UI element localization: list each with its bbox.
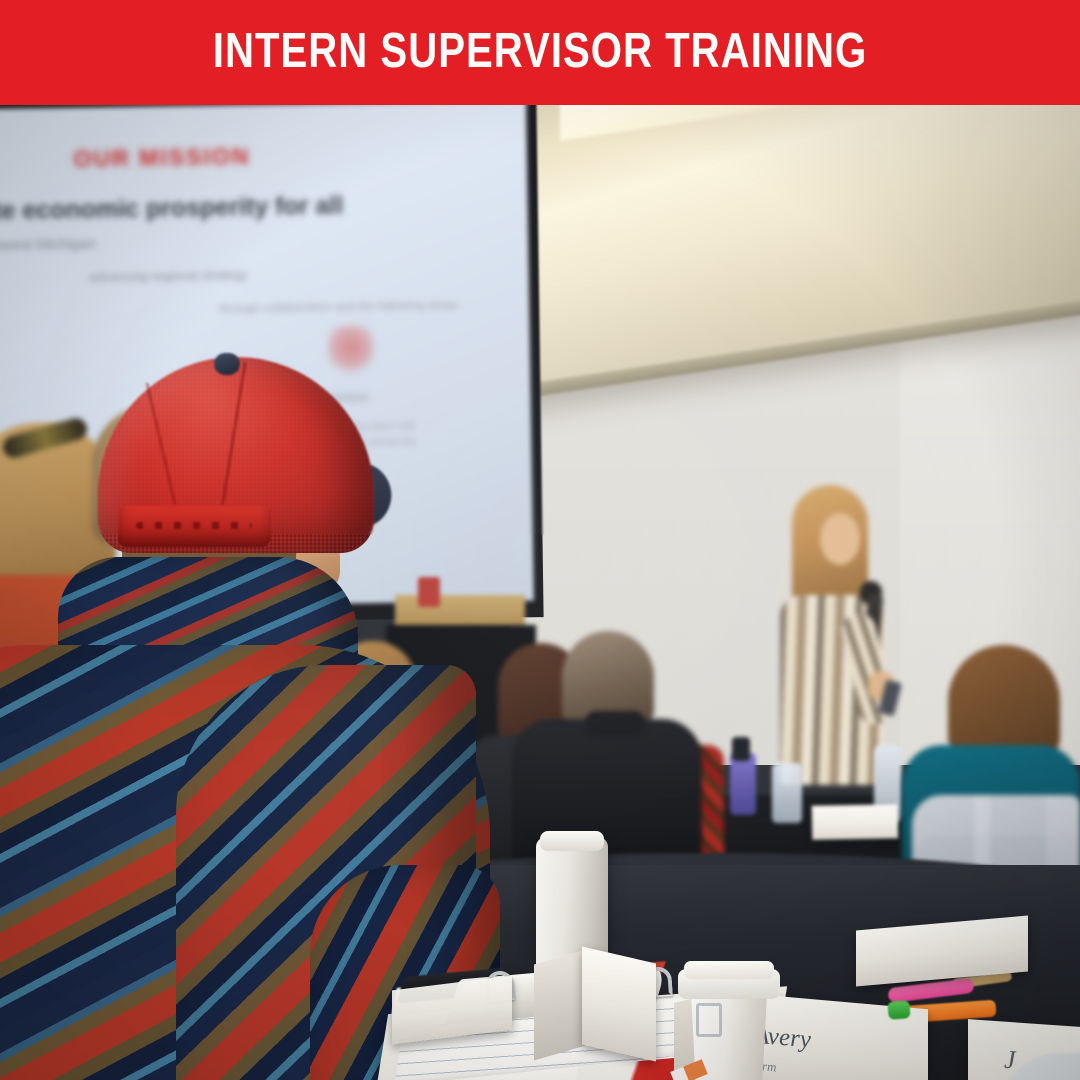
training-promo-card: INTERN SUPERVISOR TRAINING OUR MISSION c… — [0, 0, 1080, 1080]
highlighter-green-cap — [887, 1000, 910, 1019]
presenter-cup — [418, 577, 440, 607]
presenter-face — [820, 513, 860, 565]
slide-title: OUR MISSION — [57, 143, 267, 173]
water-bottle-purple — [730, 753, 756, 815]
presenter-table — [395, 595, 525, 629]
cap-top-button — [214, 353, 240, 375]
banner-bar: INTERN SUPERVISOR TRAINING — [0, 0, 1080, 105]
page-title: INTERN SUPERVISOR TRAINING — [213, 27, 867, 79]
org-mark-icon — [328, 325, 375, 378]
name-tent-label: J — [1004, 1045, 1016, 1076]
attendee-black-vest-collar — [586, 711, 644, 737]
bottle-cap — [732, 737, 750, 761]
name-tent-far — [812, 804, 899, 839]
coffee-cup-lid-top — [684, 961, 774, 979]
slide-line-2: in Southwest Michigan — [0, 235, 96, 254]
name-tent-sublabel: rm — [762, 1058, 776, 1075]
tumbler-lid — [540, 831, 604, 851]
coffee-cup-logo-icon — [696, 1003, 722, 1037]
slide-line-1: create economic prosperity for all — [0, 192, 343, 227]
slide-line-3: advancing regional strategy — [89, 267, 248, 284]
slide-line-4: through collaboration and the following … — [219, 298, 458, 316]
name-tent-face — [582, 946, 656, 1061]
name-tent-side — [534, 950, 586, 1061]
water-bottle-clear — [772, 763, 802, 823]
event-photograph: OUR MISSION create economic prosperity f… — [0, 105, 1080, 1080]
cap-snapback-strap — [118, 505, 270, 547]
